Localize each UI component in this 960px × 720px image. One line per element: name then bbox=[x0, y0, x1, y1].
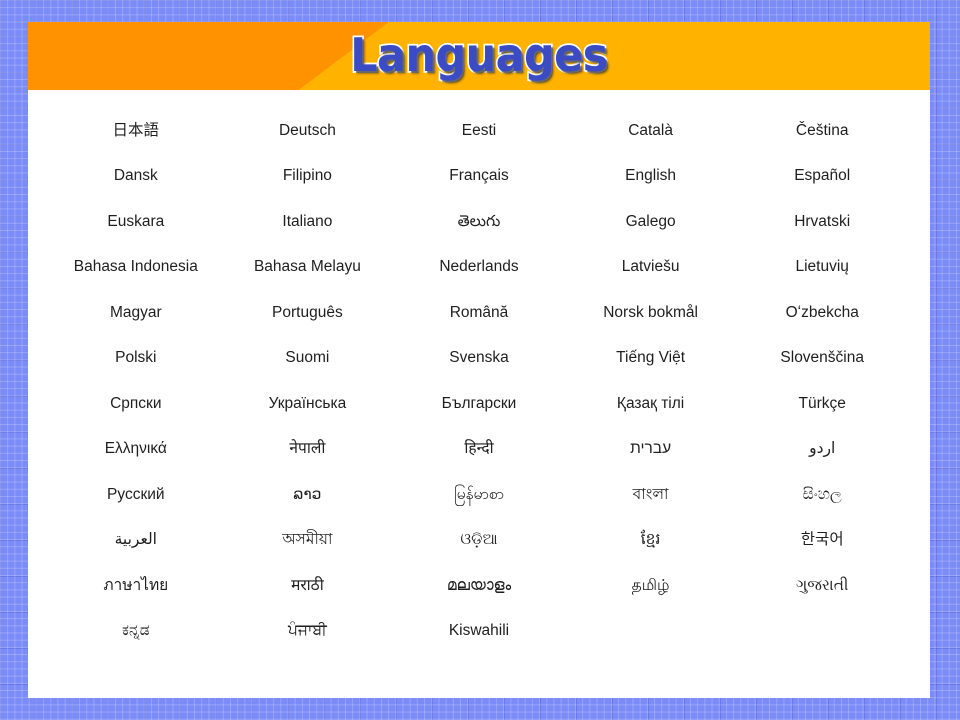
language-item[interactable]: Euskara bbox=[107, 213, 164, 231]
page-title: Languages bbox=[60, 22, 899, 90]
language-item[interactable]: தமிழ் bbox=[632, 577, 670, 595]
language-item[interactable]: සිංහල bbox=[803, 486, 842, 504]
language-item[interactable]: Kiswahili bbox=[449, 622, 509, 640]
language-item[interactable]: ខ្មែរ bbox=[641, 531, 661, 549]
language-item[interactable]: অসমীয়া bbox=[282, 531, 332, 549]
language-item[interactable]: Български bbox=[442, 395, 517, 413]
language-item[interactable]: Svenska bbox=[449, 349, 508, 367]
language-item[interactable]: Bahasa Indonesia bbox=[74, 258, 198, 276]
language-item[interactable]: ગુજરાતી bbox=[796, 577, 849, 595]
slide-root: Languages 日本語DeutschEestiCatalàČeštinaDa… bbox=[0, 0, 960, 720]
header-banner: Languages bbox=[28, 22, 930, 90]
language-item[interactable]: ਪੰਜਾਬੀ bbox=[288, 622, 327, 640]
language-item[interactable]: Čeština bbox=[796, 122, 849, 140]
language-item[interactable]: Magyar bbox=[110, 304, 162, 322]
language-item[interactable]: Hrvatski bbox=[794, 213, 850, 231]
language-item[interactable]: Dansk bbox=[114, 167, 158, 185]
language-item[interactable]: Suomi bbox=[285, 349, 329, 367]
language-item[interactable]: 日本語 bbox=[113, 122, 160, 140]
language-item[interactable]: Српски bbox=[110, 395, 161, 413]
language-item[interactable]: Español bbox=[794, 167, 850, 185]
content-card: 日本語DeutschEestiCatalàČeštinaDanskFilipin… bbox=[28, 90, 930, 698]
language-item[interactable]: ภาษาไทย bbox=[103, 577, 168, 595]
language-item[interactable]: Filipino bbox=[283, 167, 332, 185]
language-item[interactable]: English bbox=[625, 167, 676, 185]
language-item[interactable]: မြန်မာစာ bbox=[454, 486, 504, 504]
language-item[interactable]: తెలుగు bbox=[458, 213, 501, 231]
language-item[interactable]: Português bbox=[272, 304, 343, 322]
language-item[interactable]: বাংলা bbox=[633, 486, 669, 504]
language-item[interactable]: Türkçe bbox=[799, 395, 846, 413]
language-item[interactable]: العربية bbox=[115, 531, 157, 549]
language-item[interactable]: Oʻzbekcha bbox=[786, 304, 859, 322]
language-item[interactable]: Galego bbox=[626, 213, 676, 231]
language-item[interactable]: Polski bbox=[115, 349, 156, 367]
language-item[interactable]: नेपाली bbox=[289, 440, 325, 458]
language-item[interactable]: Bahasa Melayu bbox=[254, 258, 361, 276]
language-item[interactable]: Italiano bbox=[282, 213, 332, 231]
language-item[interactable]: Lietuvių bbox=[795, 258, 848, 276]
language-item[interactable]: Norsk bokmål bbox=[603, 304, 698, 322]
language-item[interactable]: ଓଡ଼ିଆ bbox=[460, 531, 497, 549]
language-item[interactable]: Deutsch bbox=[279, 122, 336, 140]
language-item[interactable]: Français bbox=[449, 167, 508, 185]
language-item[interactable]: Ελληνικά bbox=[105, 440, 167, 458]
language-grid: 日本語DeutschEestiCatalàČeštinaDanskFilipin… bbox=[50, 108, 908, 654]
language-item[interactable]: Română bbox=[450, 304, 509, 322]
language-item[interactable]: Eesti bbox=[462, 122, 496, 140]
language-item[interactable]: Latviešu bbox=[622, 258, 680, 276]
language-item[interactable]: Қазақ тілі bbox=[617, 395, 684, 413]
language-item[interactable]: Tiếng Việt bbox=[616, 349, 685, 367]
language-item[interactable]: मराठी bbox=[291, 577, 324, 595]
language-item[interactable]: हिन्दी bbox=[464, 440, 493, 458]
language-item[interactable]: اردو bbox=[809, 440, 835, 458]
language-item[interactable]: ລາວ bbox=[293, 486, 321, 504]
language-item[interactable]: Українська bbox=[269, 395, 347, 413]
language-item[interactable]: Slovenščina bbox=[780, 349, 864, 367]
language-item[interactable]: 한국어 bbox=[801, 531, 844, 549]
language-item[interactable]: Nederlands bbox=[439, 258, 518, 276]
language-item[interactable]: עברית bbox=[630, 440, 671, 458]
language-item[interactable]: Русский bbox=[107, 486, 165, 504]
language-item[interactable]: Català bbox=[628, 122, 673, 140]
language-item[interactable]: ಕನ್ನಡ bbox=[122, 622, 150, 640]
language-item[interactable]: മലയാളം bbox=[447, 577, 511, 595]
